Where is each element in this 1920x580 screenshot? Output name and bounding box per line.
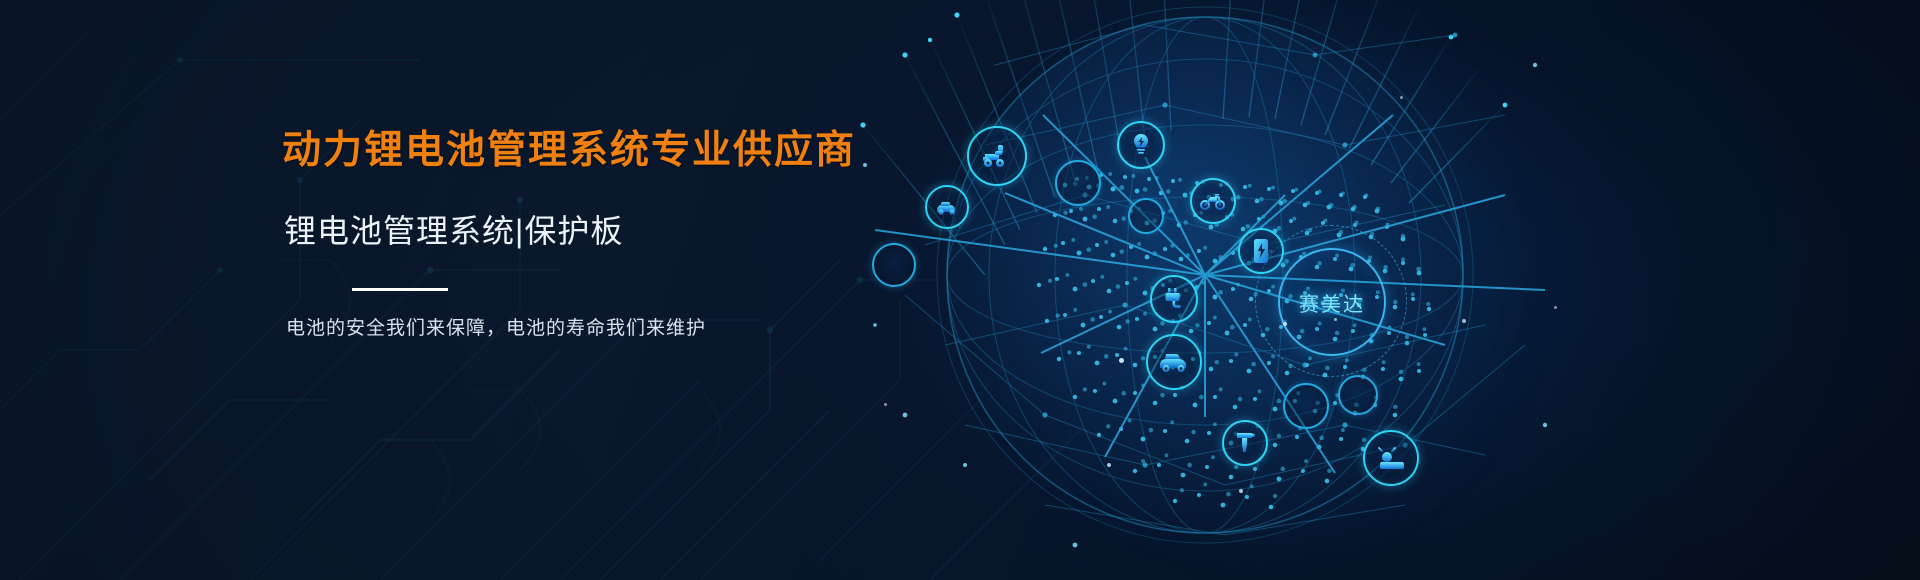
particle-speck <box>1119 358 1124 363</box>
car-icon <box>935 199 959 215</box>
node-empty-bottom[interactable] <box>1283 383 1329 429</box>
power-plug-icon <box>1162 287 1186 311</box>
particle-speck <box>1239 489 1243 493</box>
electric-tricycle-icon <box>982 143 1012 169</box>
particle-speck <box>1334 318 1337 321</box>
title-divider <box>352 288 448 291</box>
node-car-upper[interactable] <box>925 185 969 229</box>
phone-battery-icon <box>1253 238 1269 264</box>
hero-banner: 赛美达 <box>0 0 1920 580</box>
node-desk-lamp[interactable] <box>1363 430 1419 486</box>
node-phone-battery[interactable] <box>1238 228 1284 274</box>
particle-speck <box>1462 319 1466 323</box>
node-empty-lower-right[interactable] <box>1338 375 1378 415</box>
node-electric-tricycle[interactable] <box>967 126 1027 186</box>
page-subtitle: 锂电池管理系统|保护板 <box>284 206 922 252</box>
node-scooter[interactable] <box>1190 178 1236 224</box>
node-empty-mid[interactable] <box>1128 198 1164 234</box>
desk-lamp-icon <box>1375 444 1407 472</box>
car-icon <box>1158 351 1190 373</box>
globe-center-label: 赛美达 <box>1299 288 1365 317</box>
node-power-plug[interactable] <box>1150 275 1198 323</box>
particle-speck <box>884 403 887 406</box>
node-power-drill[interactable] <box>1222 420 1268 466</box>
lightbulb-charge-icon <box>1131 133 1151 157</box>
network-globe-graphic <box>845 0 1565 580</box>
particle-speck <box>1554 306 1557 309</box>
hero-copy: 动力锂电池管理系统专业供应商 锂电池管理系统|保护板 电池的安全我们来保障，电池… <box>282 128 922 340</box>
scooter-icon <box>1200 191 1226 211</box>
power-drill-icon <box>1234 431 1256 455</box>
node-empty-top[interactable] <box>1055 160 1101 206</box>
page-tagline: 电池的安全我们来保障，电池的寿命我们来维护 <box>286 313 922 340</box>
globe-center-hub: 赛美达 <box>1278 248 1386 356</box>
particle-speck <box>1107 463 1111 467</box>
particle-speck <box>1283 322 1287 326</box>
page-title: 动力锂电池管理系统专业供应商 <box>282 128 922 174</box>
particle-speck <box>1400 96 1403 99</box>
node-lightbulb[interactable] <box>1117 121 1165 169</box>
node-car-lower[interactable] <box>1146 334 1202 390</box>
